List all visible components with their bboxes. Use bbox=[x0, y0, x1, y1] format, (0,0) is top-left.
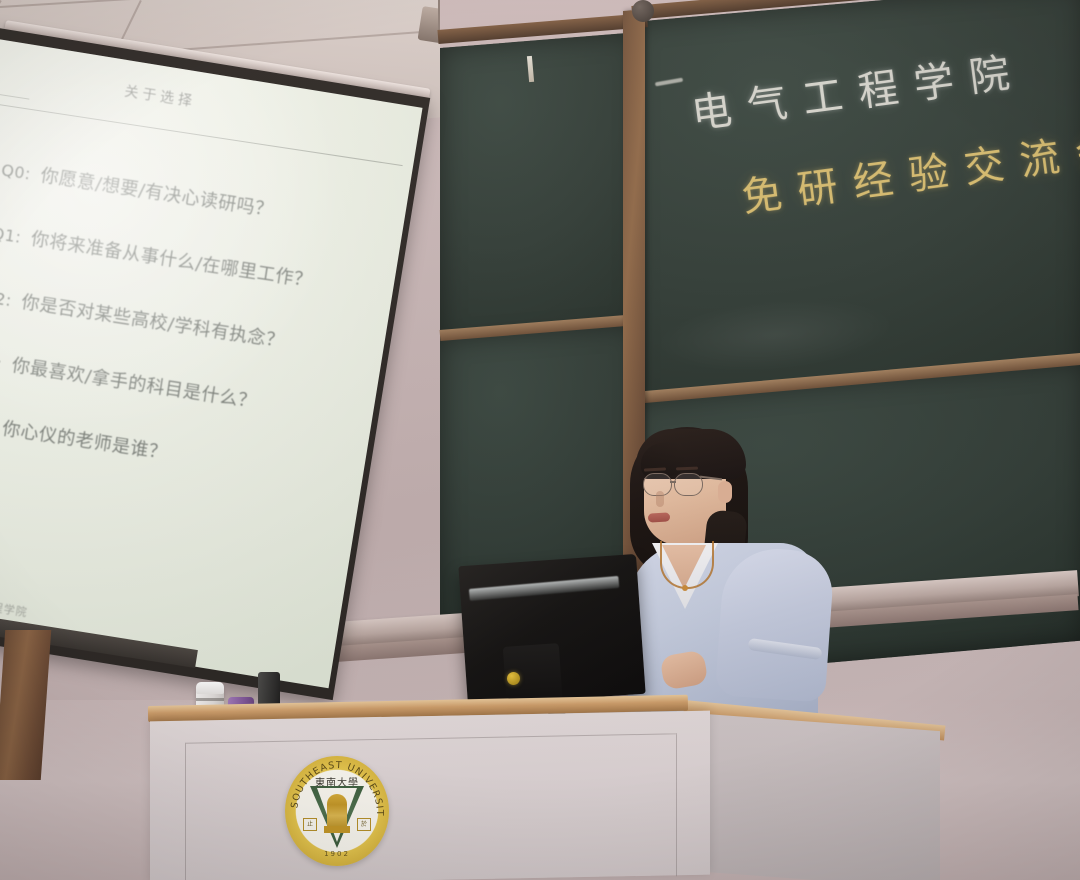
question-text: 你愿意/想要/有决心读研吗？ bbox=[39, 161, 275, 222]
monitor-power-led bbox=[507, 672, 520, 685]
monitor-back-highlight bbox=[469, 576, 619, 601]
podium-panel-outline bbox=[185, 733, 677, 880]
emblem-building-base bbox=[324, 826, 350, 833]
emblem-left-char: 止 bbox=[303, 818, 317, 831]
university-emblem: SOUTHEAST UNIVERSITY 東南大學 止 於 1902 bbox=[285, 756, 389, 866]
glasses-lens-right bbox=[674, 473, 703, 496]
necklace-pendant bbox=[682, 585, 688, 591]
ceiling-seam bbox=[0, 0, 379, 7]
slide-title: 关于选择 bbox=[123, 81, 197, 112]
slide-title-rule bbox=[0, 101, 403, 166]
necklace bbox=[660, 541, 714, 589]
slide-footer: 东南大学电气工程学院 bbox=[0, 586, 29, 620]
emblem-building-icon bbox=[327, 794, 347, 830]
nose bbox=[656, 491, 664, 507]
glasses-bridge bbox=[670, 481, 676, 483]
white-container-band bbox=[196, 698, 224, 701]
question-text: 你心仪的老师是谁？ bbox=[1, 414, 170, 465]
slide-question-list: Q0: 你愿意/想要/有决心读研吗？ Q1: 你将来准备从事什么/在哪里工作？ … bbox=[0, 155, 399, 531]
right-shoulder-sleeve bbox=[715, 545, 835, 702]
slide-question-item: Q1: 你将来准备从事什么/在哪里工作？ bbox=[0, 219, 390, 305]
question-key: Q3: bbox=[0, 350, 4, 373]
emblem-right-char: 於 bbox=[357, 818, 371, 831]
question-text: 你最喜欢/拿手的科目是什么？ bbox=[10, 351, 258, 414]
question-key: Q2: bbox=[0, 287, 13, 310]
ear bbox=[718, 481, 732, 503]
podium-side-face bbox=[690, 713, 940, 880]
white-container-cap[interactable] bbox=[196, 682, 224, 694]
blackboard-panel-upper-left bbox=[440, 32, 640, 348]
blackboard-slide-knob[interactable] bbox=[632, 0, 654, 22]
question-text: 你将来准备从事什么/在哪里工作？ bbox=[29, 225, 314, 293]
question-key: Q0: bbox=[0, 160, 32, 183]
lecture-hall-photo: 电气工程学院 免研经验交流会 关于选择 Q0: 你愿意/想要/有决心读研吗？ Q… bbox=[0, 0, 1080, 880]
mouth bbox=[648, 512, 670, 522]
question-key: Q1: bbox=[0, 224, 23, 247]
question-text: 你是否对某些高校/学科有执念？ bbox=[20, 288, 286, 353]
podium-front-face bbox=[150, 711, 710, 880]
emblem-founding-year: 1902 bbox=[285, 850, 389, 858]
